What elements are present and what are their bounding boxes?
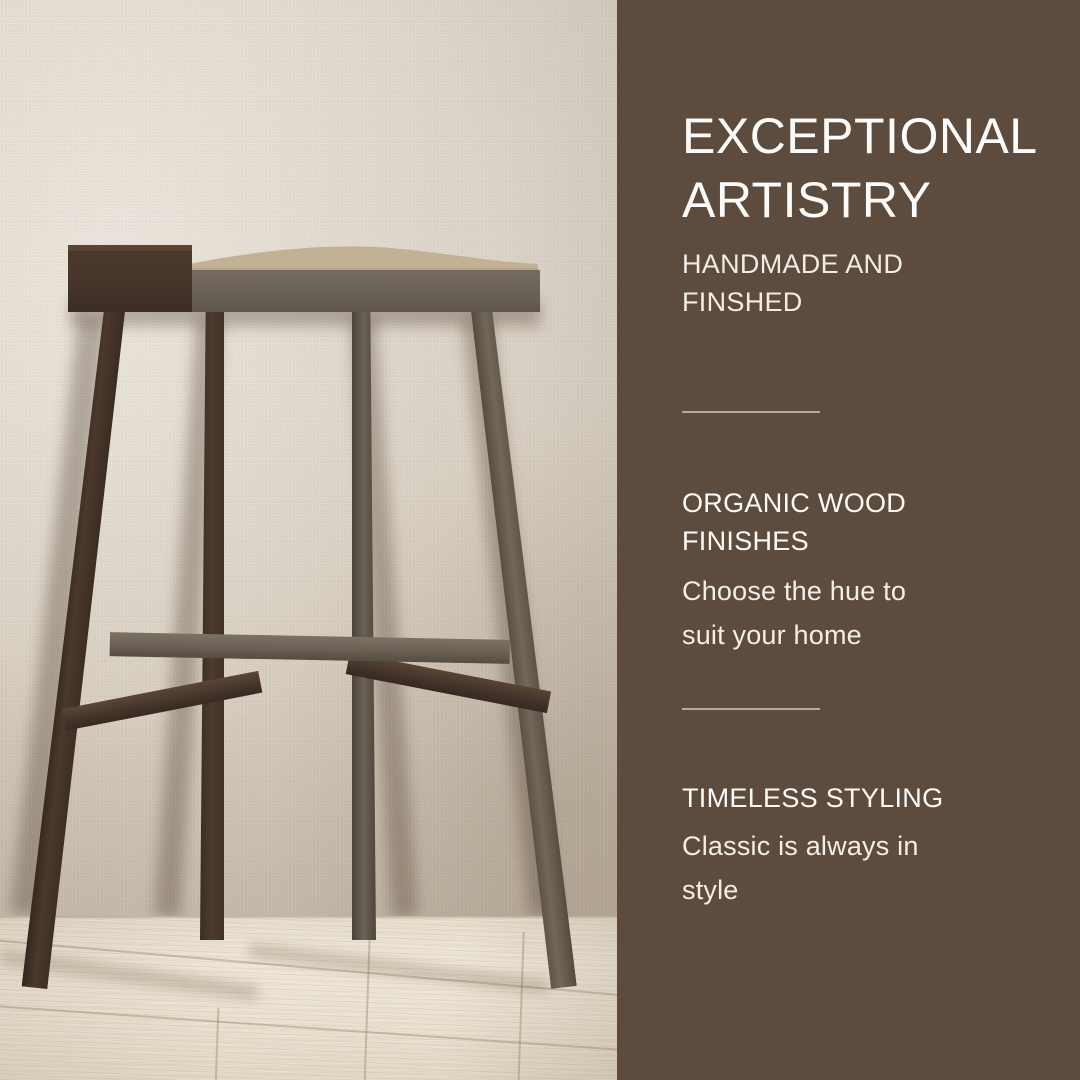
feature-body-timeless-styling: Classic is always in style — [682, 824, 919, 912]
stool-seat-end-cap-top — [68, 245, 192, 251]
marketing-text-panel: EXCEPTIONAL ARTISTRY HANDMADE AND FINSHE… — [617, 0, 1080, 1080]
product-marketing-canvas: EXCEPTIONAL ARTISTRY HANDMADE AND FINSHE… — [0, 0, 1080, 1080]
stool-seat-end-cap — [68, 248, 192, 312]
feature-title-organic-wood-finishes: ORGANIC WOOD FINISHES — [682, 484, 906, 560]
page-subtitle: HANDMADE AND FINSHED — [682, 245, 903, 321]
feature-divider-1 — [682, 411, 820, 413]
feature-body-organic-wood-finishes: Choose the hue to suit your home — [682, 569, 906, 657]
oak-floor — [0, 916, 617, 1080]
stool-seat-front-face — [190, 270, 540, 312]
feature-title-timeless-styling: TIMELESS STYLING — [682, 779, 943, 817]
stool-seat — [60, 240, 540, 312]
page-title: EXCEPTIONAL ARTISTRY — [682, 104, 1038, 232]
feature-divider-2 — [682, 708, 820, 710]
wall-floor-junction — [0, 916, 617, 919]
product-photo — [0, 0, 617, 1080]
floor-shading — [0, 916, 617, 1080]
